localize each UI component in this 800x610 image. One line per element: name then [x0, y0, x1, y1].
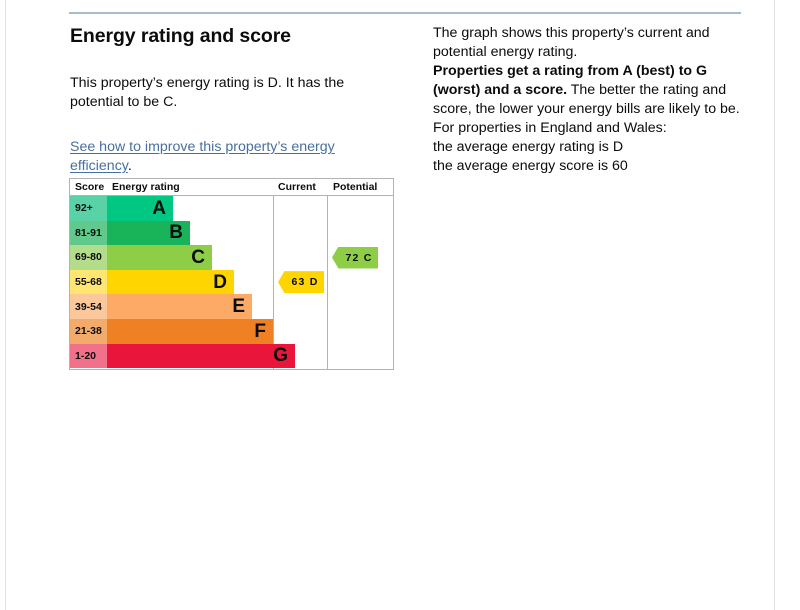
chart-band-row: 55-68D — [70, 270, 273, 295]
rating-explanation-text: Properties get a rating from A (best) to… — [433, 62, 741, 119]
average-rating-text: the average energy rating is D — [433, 138, 743, 157]
chart-band-row: 92+A — [70, 196, 273, 221]
rating-summary-text: This property’s energy rating is D. It h… — [70, 74, 370, 112]
chart-band-row: 39-54E — [70, 294, 273, 319]
chart-band-row: 1-20G — [70, 344, 273, 369]
band-score-range: 92+ — [70, 196, 107, 221]
band-bar-f: F — [107, 319, 273, 344]
chart-header-current: Current — [278, 181, 316, 193]
page-frame: Energy rating and score This property’s … — [5, 0, 775, 610]
band-score-range: 81-91 — [70, 221, 107, 246]
divider-top — [69, 12, 741, 14]
band-bar-a: A — [107, 196, 173, 221]
page-title: Energy rating and score — [70, 24, 400, 48]
chart-header-row: Score Energy rating Current Potential — [70, 179, 393, 196]
chart-header-rating: Energy rating — [112, 181, 180, 193]
chart-header-score: Score — [75, 181, 104, 193]
chart-body: 92+A81-91B69-80C55-68D39-54E21-38F1-20G6… — [70, 196, 393, 369]
band-score-range: 39-54 — [70, 294, 107, 319]
energy-rating-chart: Score Energy rating Current Potential 92… — [69, 178, 394, 370]
chart-band-row: 81-91B — [70, 221, 273, 246]
right-column: The graph shows this property’s current … — [433, 24, 743, 176]
improve-efficiency-paragraph: See how to improve this property’s energ… — [70, 138, 370, 176]
band-bar-g: G — [107, 344, 295, 369]
link-trailing-period: . — [128, 158, 132, 174]
average-score-text: the average energy score is 60 — [433, 157, 743, 176]
improve-efficiency-link[interactable]: See how to improve this property’s energ… — [70, 139, 335, 174]
graph-intro-text: The graph shows this property’s current … — [433, 24, 733, 62]
chart-header-potential: Potential — [333, 181, 377, 193]
region-intro-text: For properties in England and Wales: — [433, 119, 743, 138]
band-bar-d: D — [107, 270, 234, 295]
chart-band-row: 21-38F — [70, 319, 273, 344]
column-divider-potential — [327, 196, 328, 369]
band-bar-c: C — [107, 245, 212, 270]
band-score-range: 69-80 — [70, 245, 107, 270]
band-score-range: 55-68 — [70, 270, 107, 295]
band-bar-b: B — [107, 221, 190, 246]
band-bar-e: E — [107, 294, 252, 319]
band-score-range: 1-20 — [70, 344, 107, 369]
potential-rating-indicator: 72 C — [332, 247, 378, 269]
band-score-range: 21-38 — [70, 319, 107, 344]
left-column: Energy rating and score This property’s … — [70, 24, 400, 176]
current-rating-indicator: 63 D — [278, 271, 324, 293]
chart-band-row: 69-80C — [70, 245, 273, 270]
